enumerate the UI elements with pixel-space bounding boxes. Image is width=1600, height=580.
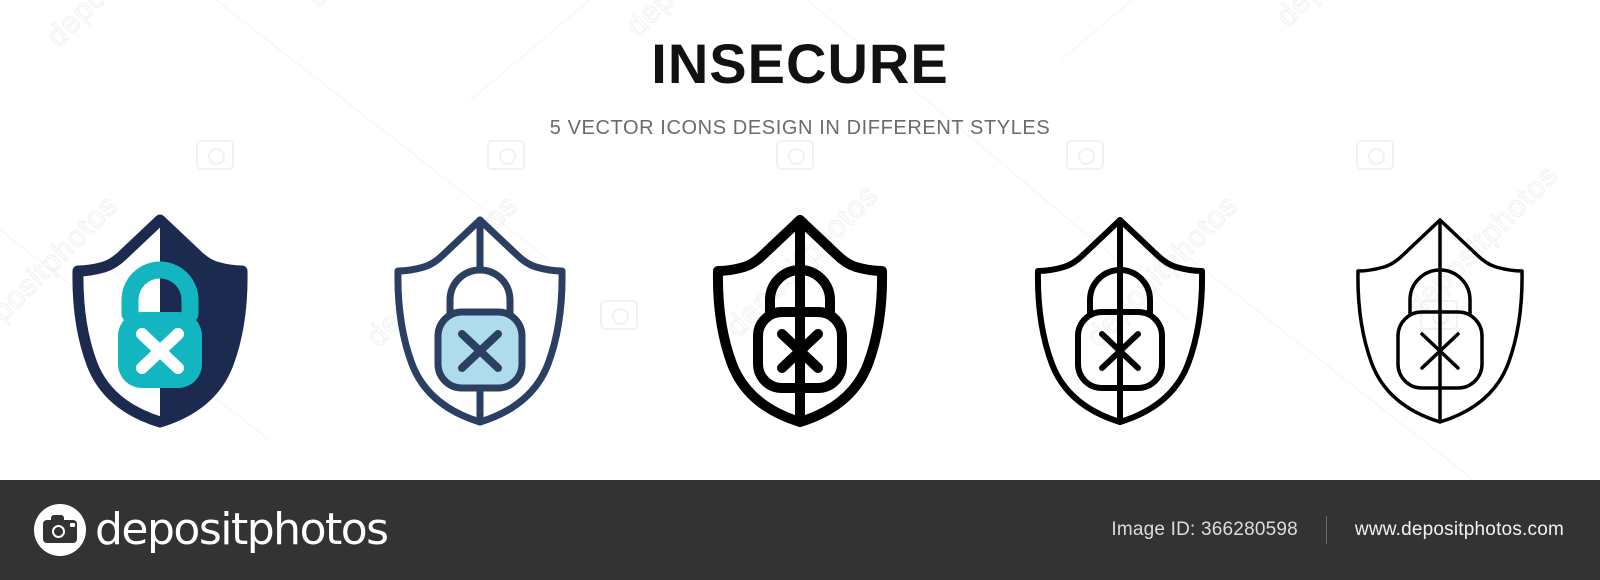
icon-variant-bold[interactable]	[640, 196, 960, 446]
page-subtitle: 5 VECTOR ICONS DESIGN IN DIFFERENT STYLE…	[0, 92, 1600, 138]
watermark-camera-icon	[776, 140, 814, 170]
watermark-camera-icon	[487, 140, 525, 170]
brand-logo[interactable]: depositphotos	[34, 504, 388, 556]
insecure-shield-lock-duotone-icon	[380, 214, 580, 428]
camera-icon	[34, 504, 86, 556]
watermark-camera-icon	[196, 140, 234, 170]
icon-variant-filled[interactable]	[0, 196, 320, 446]
stock-photo-preview: depositphotos depositphotos depositphoto…	[0, 0, 1600, 580]
insecure-shield-lock-bold-icon	[700, 214, 900, 428]
insecure-shield-lock-filled-icon	[60, 214, 260, 428]
icon-variant-duotone[interactable]	[320, 196, 640, 446]
watermark-camera-icon	[1066, 140, 1104, 170]
footer-bar: depositphotos Image ID: 366280598 www.de…	[0, 480, 1600, 580]
image-id-label: Image ID: 366280598	[1111, 519, 1298, 541]
brand-name: depositphotos	[95, 508, 388, 552]
icon-showcase-row	[0, 196, 1600, 446]
header: INSECURE 5 VECTOR ICONS DESIGN IN DIFFER…	[0, 0, 1600, 138]
footer-meta: Image ID: 366280598 www.depositphotos.co…	[1111, 516, 1564, 544]
camera-lens	[52, 525, 65, 538]
footer-divider	[1326, 516, 1327, 544]
watermark-camera-icon	[1356, 140, 1394, 170]
insecure-shield-lock-regular-icon	[1020, 214, 1220, 428]
insecure-shield-lock-thin-icon	[1340, 214, 1540, 428]
camera-flash	[70, 523, 75, 527]
icon-variant-thin[interactable]	[1280, 196, 1600, 446]
site-url-link[interactable]: www.depositphotos.com	[1355, 519, 1564, 541]
icon-variant-regular[interactable]	[960, 196, 1280, 446]
page-title: INSECURE	[0, 0, 1600, 92]
